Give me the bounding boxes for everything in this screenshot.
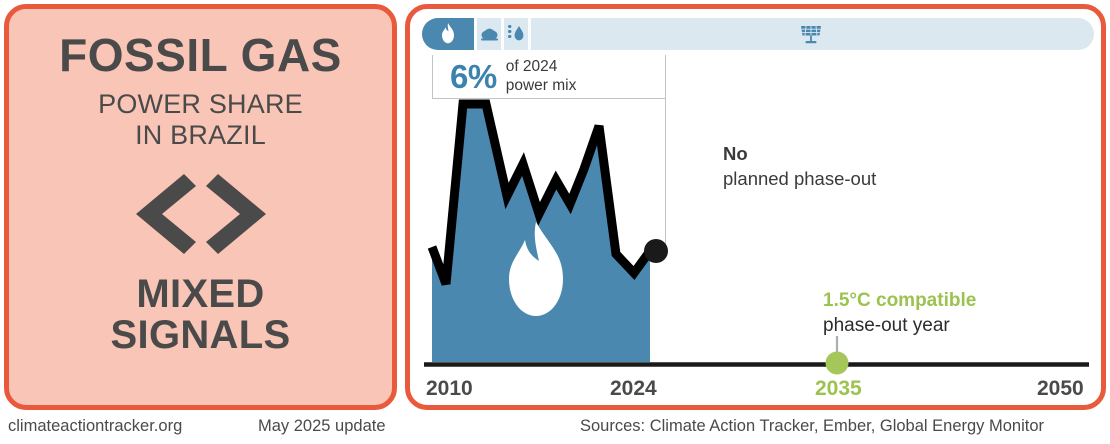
planned-phaseout-bold: No	[723, 143, 748, 164]
subtitle-line-2: IN BRAZIL	[98, 120, 303, 150]
verdict-label: MIXED SIGNALS	[111, 274, 291, 356]
verdict-line-2: SIGNALS	[111, 315, 291, 356]
subtitle-line-1: POWER SHARE	[98, 89, 303, 119]
chart-panel: 6% of 2024 power mix	[405, 4, 1106, 410]
planned-phaseout-rest: planned phase-out	[723, 168, 876, 189]
footer-update-date: May 2025 update	[258, 417, 386, 436]
compatible-line-2: phase-out year	[823, 314, 976, 339]
mixed-signals-chevrons-icon	[126, 168, 276, 260]
axis-tick-2010: 2010	[426, 377, 473, 401]
last-data-point-marker	[644, 239, 668, 263]
axis-tick-2050: 2050	[1037, 377, 1084, 401]
axis-tick-2035: 2035	[815, 377, 862, 401]
planned-phaseout-annotation: No planned phase-out	[723, 142, 876, 192]
compatible-line-1: 1.5°C compatible	[823, 289, 976, 314]
share-area-chart	[410, 9, 1101, 405]
fuel-summary-panel: FOSSIL GAS POWER SHARE IN BRAZIL MIXED S…	[4, 4, 397, 410]
infographic-root: FOSSIL GAS POWER SHARE IN BRAZIL MIXED S…	[0, 0, 1110, 444]
footer: climateactiontracker.org May 2025 update…	[0, 414, 1110, 444]
compatible-year-annotation: 1.5°C compatible phase-out year	[823, 289, 976, 338]
footer-sources: Sources: Climate Action Tracker, Ember, …	[580, 417, 1044, 436]
axis-tick-2024: 2024	[610, 377, 657, 401]
phaseout-year-marker	[826, 352, 849, 375]
fuel-tab-gas[interactable]	[422, 18, 474, 50]
verdict-line-1: MIXED	[111, 274, 291, 315]
page-subtitle: POWER SHARE IN BRAZIL	[98, 89, 303, 149]
footer-website-link[interactable]: climateactiontracker.org	[8, 417, 182, 436]
flame-icon	[437, 22, 459, 46]
page-title: FOSSIL GAS	[59, 31, 342, 79]
